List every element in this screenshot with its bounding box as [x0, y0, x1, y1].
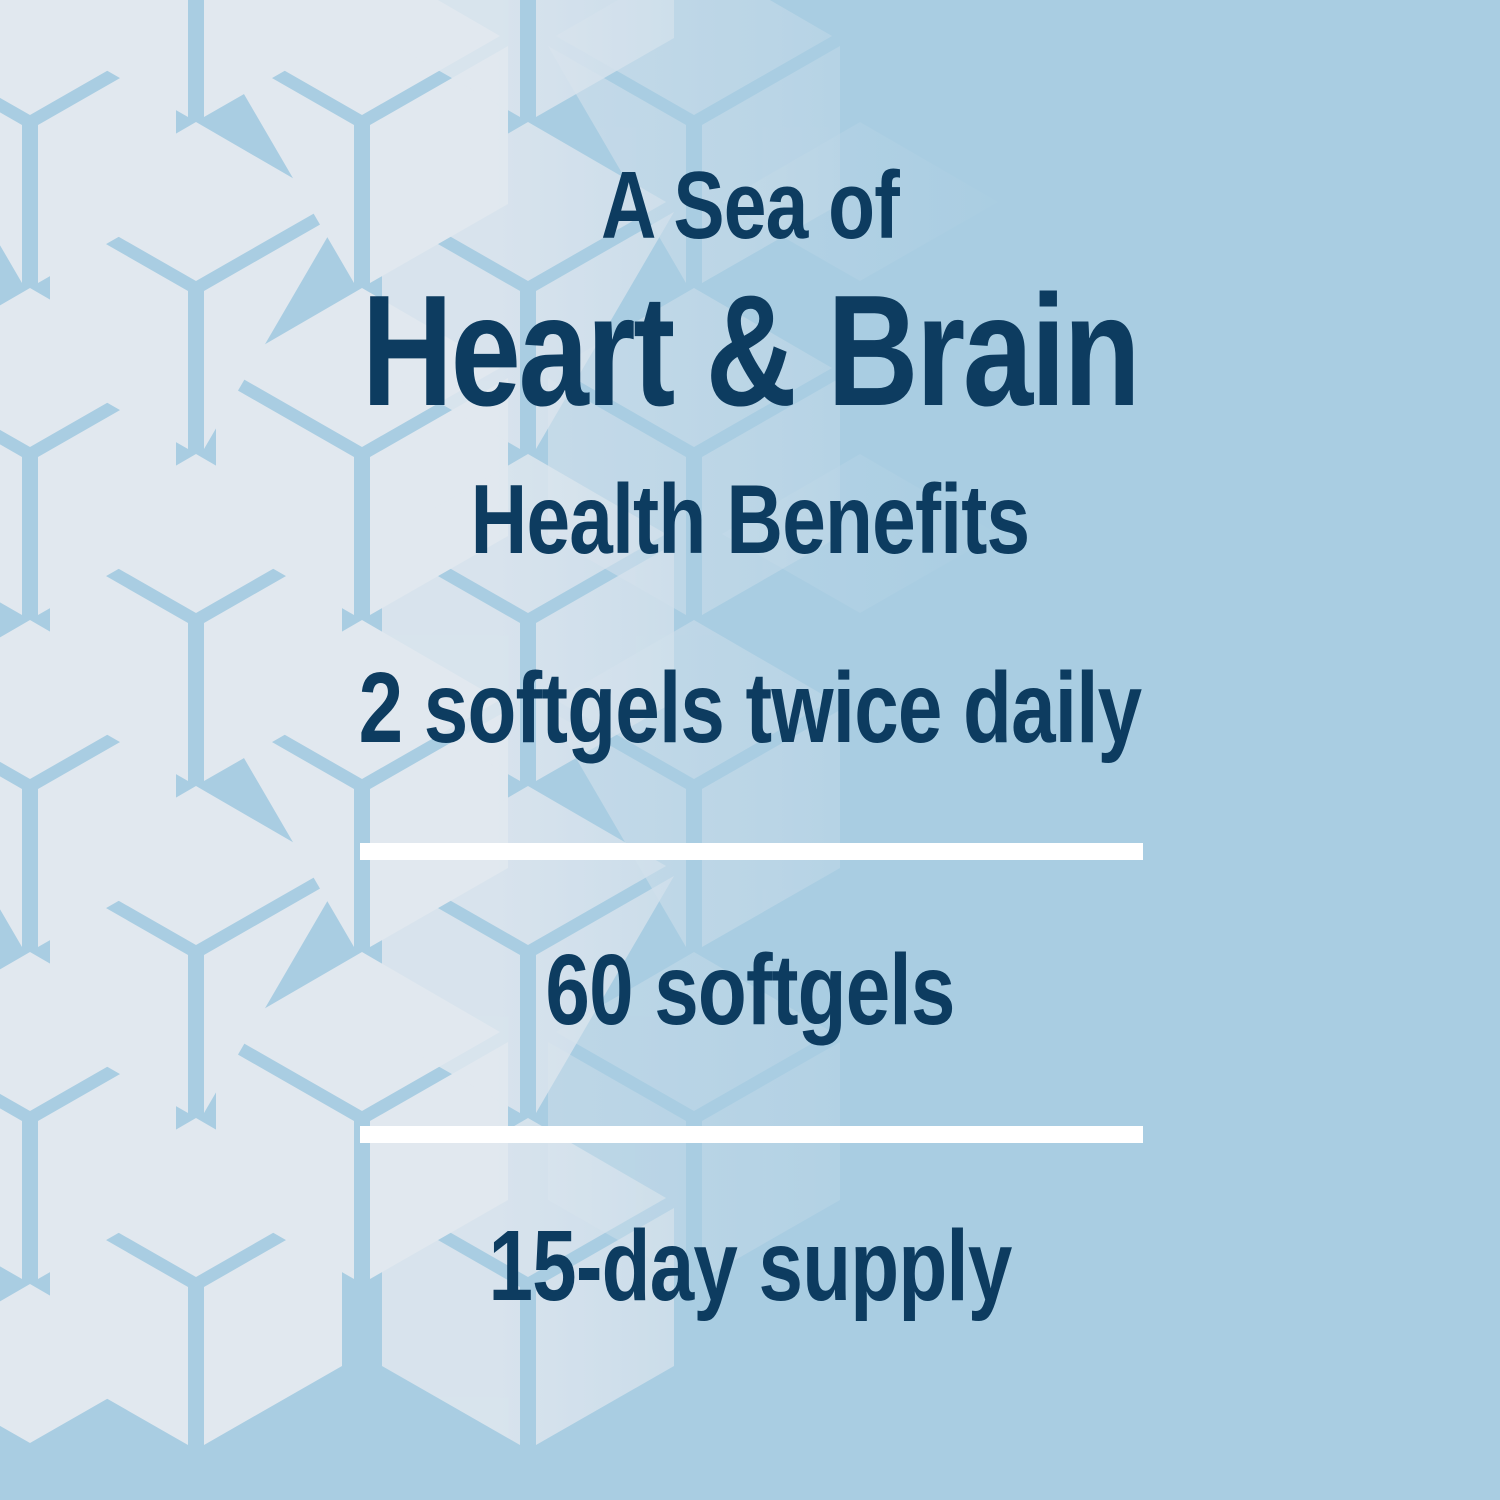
headline-text: Heart & Brain	[150, 272, 1350, 430]
eyebrow-text: A Sea of	[150, 158, 1350, 254]
poster-content: A Sea of Heart & Brain Health Benefits 2…	[0, 0, 1500, 1500]
dosage-text: 2 softgels twice daily	[150, 658, 1350, 758]
softgel-count-text: 60 softgels	[150, 940, 1350, 1040]
subheadline-text: Health Benefits	[150, 470, 1350, 568]
divider-bottom	[360, 1126, 1143, 1143]
divider-top	[360, 843, 1143, 860]
product-info-poster: A Sea of Heart & Brain Health Benefits 2…	[0, 0, 1500, 1500]
supply-duration-text: 15-day supply	[150, 1216, 1350, 1316]
